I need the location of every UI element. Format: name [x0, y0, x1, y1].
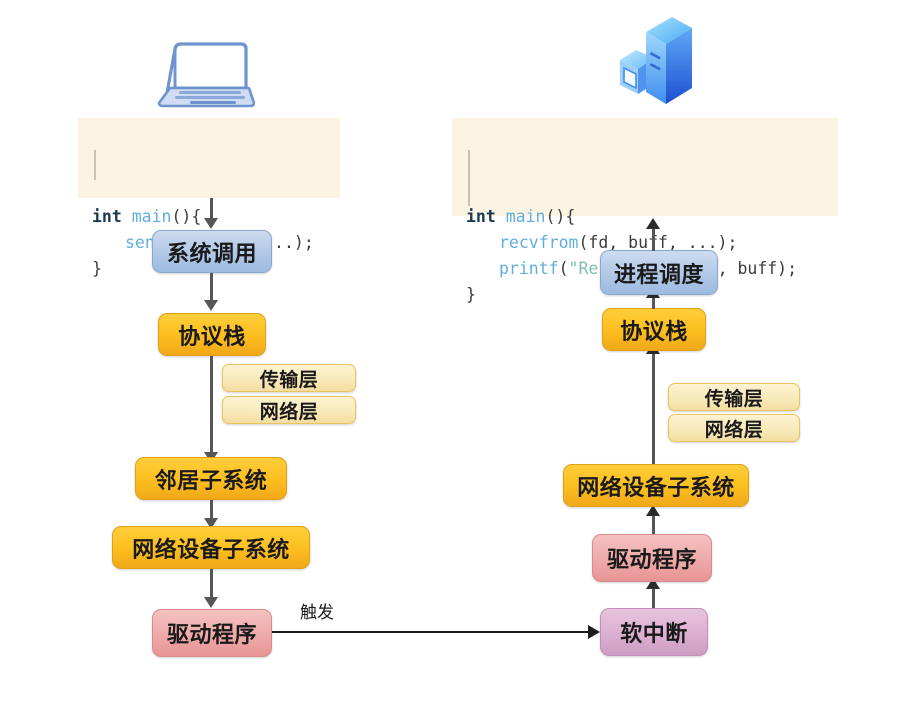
code-token: [122, 207, 132, 226]
box-process-schedule: 进程调度: [600, 250, 718, 295]
code-block-client: int main(){send(fd, buf, ...);}: [78, 118, 340, 198]
trigger-edge-line: [272, 631, 590, 633]
box-transport-layer-recv: 传输层: [668, 383, 800, 411]
connector-line: [652, 227, 655, 251]
box-netdev-subsystem-send: 网络设备子系统: [112, 526, 310, 569]
connector-arrow: [646, 218, 660, 229]
code-token: printf: [499, 259, 559, 278]
code-token: int: [92, 207, 122, 226]
connector-line: [652, 587, 655, 608]
connector-line: [652, 514, 655, 534]
box-network-layer-send: 网络层: [222, 396, 356, 424]
server-tower-icon: [600, 12, 696, 121]
box-neighbour-subsystem: 邻居子系统: [135, 457, 287, 500]
laptop-icon: [145, 25, 255, 115]
box-netdev-subsystem-recv: 网络设备子系统: [563, 464, 749, 507]
code-token: }: [466, 285, 476, 304]
box-transport-layer-send: 传输层: [222, 364, 356, 392]
box-network-layer-recv: 网络层: [668, 414, 800, 442]
trigger-edge-label: 触发: [300, 598, 334, 623]
connector-line: [210, 356, 213, 458]
code-token: main: [506, 207, 546, 226]
code-token: , buff);: [718, 259, 797, 278]
code-token: (){: [546, 207, 576, 226]
connector-line: [652, 352, 655, 464]
code-token: recvfrom: [499, 233, 578, 252]
connector-arrow: [204, 300, 218, 311]
code-token: int: [466, 207, 496, 226]
connector-arrow: [204, 597, 218, 608]
box-softirq: 软中断: [600, 608, 708, 656]
connector-arrow: [204, 218, 218, 229]
diagram-canvas: int main(){send(fd, buf, ...);} int main…: [0, 0, 915, 723]
connector-line: [210, 198, 213, 220]
box-driver-send: 驱动程序: [152, 609, 272, 657]
code-token: [496, 207, 506, 226]
box-protocol-stack-recv: 协议栈: [602, 308, 706, 351]
code-token: main: [132, 207, 172, 226]
connector-line: [210, 273, 213, 303]
box-protocol-stack-send: 协议栈: [158, 313, 266, 356]
code-block-server: int main(){recvfrom(fd, buff, ...);print…: [452, 118, 838, 216]
code-token: (){: [172, 207, 202, 226]
trigger-edge-arrow: [588, 625, 600, 639]
box-syscall: 系统调用: [152, 230, 272, 273]
box-driver-recv: 驱动程序: [592, 534, 712, 582]
code-token: (: [559, 259, 569, 278]
code-token: }: [92, 259, 102, 278]
